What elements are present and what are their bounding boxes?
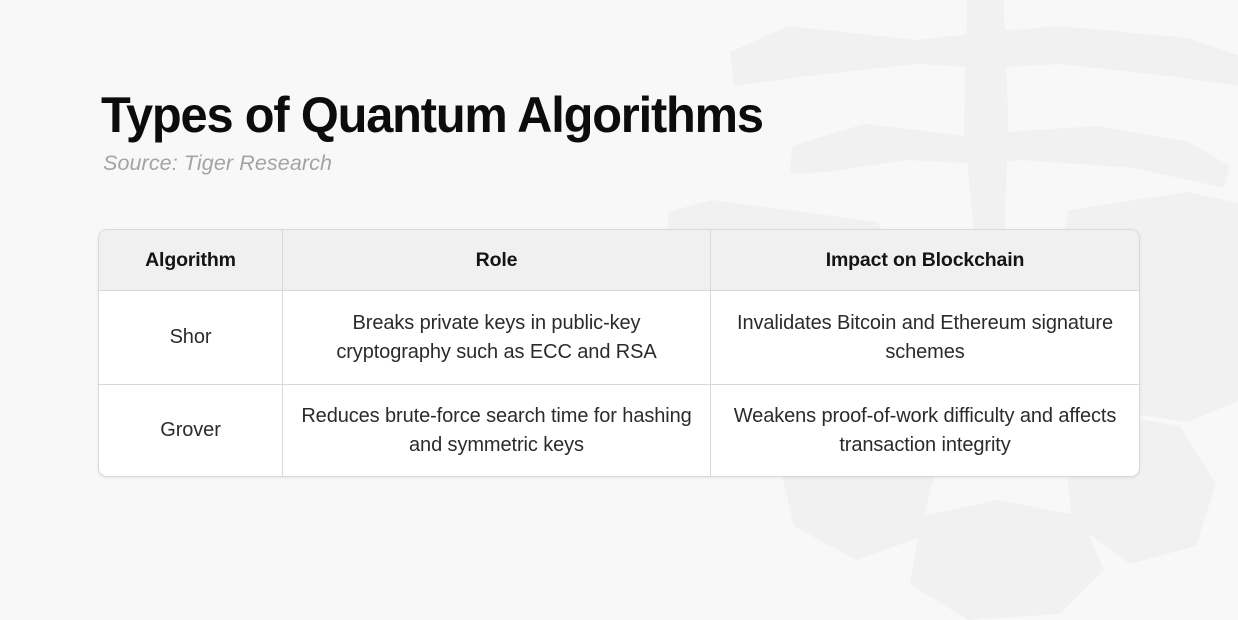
quantum-algorithms-table: Algorithm Role Impact on Blockchain Shor… <box>98 229 1140 477</box>
column-header-impact: Impact on Blockchain <box>711 230 1139 291</box>
table-row: Shor Breaks private keys in public-key c… <box>99 291 1139 385</box>
table-container: Algorithm Role Impact on Blockchain Shor… <box>98 229 1138 477</box>
cell-role: Reduces brute-force search time for hash… <box>283 385 711 476</box>
table-header: Algorithm Role Impact on Blockchain <box>99 230 1139 291</box>
page-title: Types of Quantum Algorithms <box>101 89 979 142</box>
column-header-role: Role <box>283 230 711 291</box>
cell-impact: Weakens proof-of-work difficulty and aff… <box>711 385 1139 476</box>
table-row: Grover Reduces brute-force search time f… <box>99 385 1139 476</box>
cell-impact: Invalidates Bitcoin and Ethereum signatu… <box>711 291 1139 385</box>
column-header-algorithm: Algorithm <box>99 230 283 291</box>
heading-block: Types of Quantum Algorithms Source: Tige… <box>101 89 1001 176</box>
cell-algorithm: Grover <box>99 385 283 476</box>
cell-role: Breaks private keys in public-key crypto… <box>283 291 711 385</box>
cell-algorithm: Shor <box>99 291 283 385</box>
slide-content: Types of Quantum Algorithms Source: Tige… <box>0 0 1238 574</box>
table-body: Shor Breaks private keys in public-key c… <box>99 291 1139 476</box>
source-attribution: Source: Tiger Research <box>103 151 1001 176</box>
table-header-row: Algorithm Role Impact on Blockchain <box>99 230 1139 291</box>
